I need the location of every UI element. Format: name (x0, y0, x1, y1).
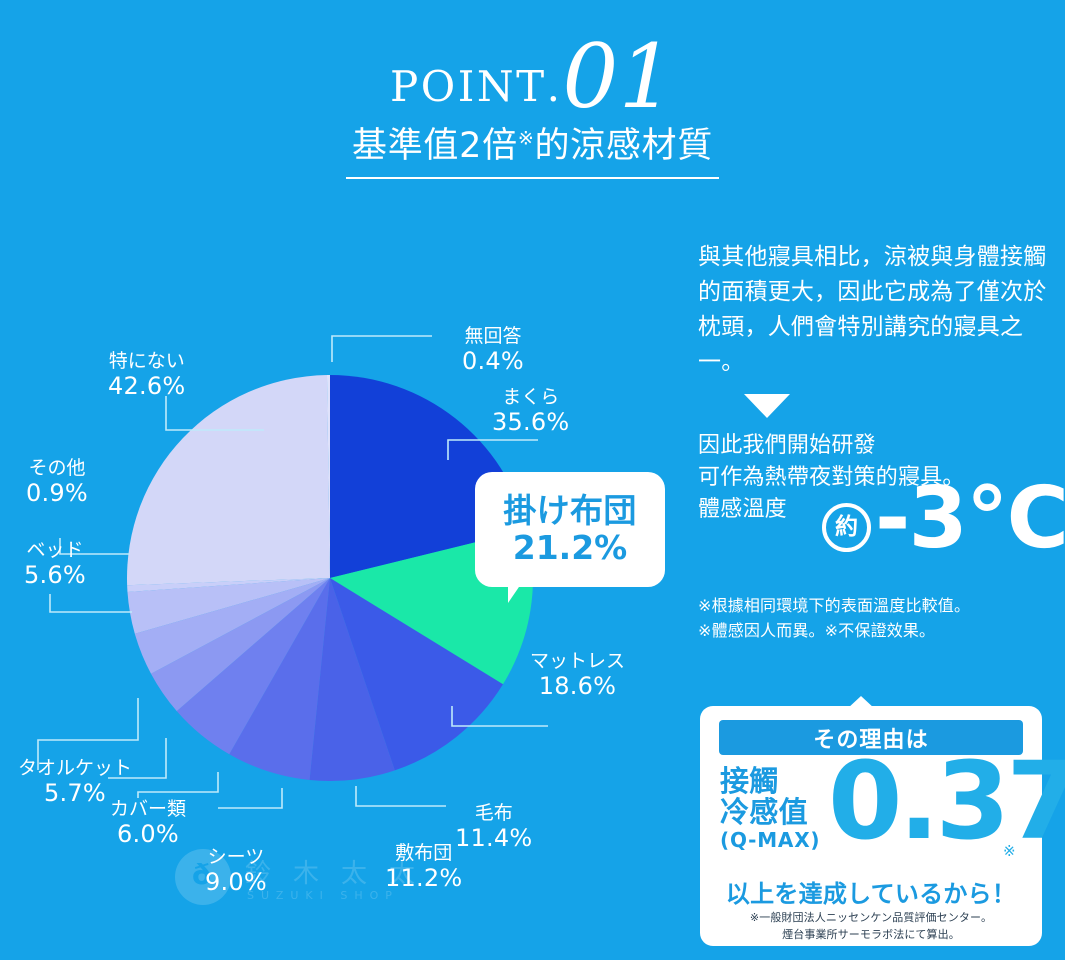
qmax-label-line2: 冷感值 (720, 797, 820, 828)
pie-label-name: まくら (492, 386, 569, 408)
qmax-value: 0.37 (828, 749, 1065, 856)
pie-slices (127, 375, 533, 781)
pie-label-percent: 0.4% (462, 347, 524, 375)
qmax-label-line1: 接觸 (720, 766, 820, 797)
subtitle-before: 基準值2倍 (352, 126, 518, 166)
pie-label-makura: まくら 35.6% (492, 386, 569, 437)
callout-tail (508, 584, 521, 603)
intro-paragraph: 與其他寢具相比，涼被與身體接觸的面積更大，因此它成為了僅次於枕頭，人們會特別講究… (698, 240, 1050, 380)
pie-slice-10 (127, 375, 330, 585)
card-fineprint-line1: ※一般財団法人ニッセンケン品質評価センター。 (700, 910, 1042, 927)
point-word: POINT (390, 62, 547, 111)
reason-card: その理由は 接觸 冷感值 (Q-MAX) 0.37 ※ 以上を達成しているから！… (700, 706, 1042, 946)
pie-label-name: 敷布団 (385, 842, 462, 864)
infographic-root: POINT.01 基準值2倍※的涼感材質 (0, 0, 1065, 960)
qmax-label-line3: (Q-MAX) (720, 830, 820, 851)
header: POINT.01 基準值2倍※的涼感材質 (0, 34, 1065, 179)
development-line-1: 因此我們開始研發 (698, 430, 1050, 462)
point-number: 01 (562, 40, 675, 115)
approx-badge: 約 (822, 503, 871, 552)
pie-label-name: 毛布 (455, 802, 532, 824)
pie-callout-bubble: 掛け布団 21.2% (475, 472, 665, 587)
temperature-value: -3 (875, 478, 966, 560)
pie-label-shikibuton: 敷布団 11.2% (385, 842, 462, 893)
qmax-value-asterisk: ※ (1003, 842, 1016, 860)
right-column: 與其他寢具相比，涼被與身體接觸的面積更大，因此它成為了僅次於枕頭，人們會特別講究… (698, 240, 1050, 644)
pie-label-name: 特にない (108, 350, 185, 372)
point-dot: . (547, 62, 561, 111)
pie-label-mofu: 毛布 11.4% (455, 802, 532, 853)
qmax-label: 接觸 冷感值 (Q-MAX) (720, 766, 820, 852)
pie-label-name: タオルケット (18, 757, 132, 779)
temperature-row: 約 -3 ℃ ※ (698, 480, 1050, 568)
pie-label-bed: ベッド 5.6% (24, 539, 86, 590)
pie-label-percent: 5.7% (18, 779, 132, 807)
footnote-line-2: ※體感因人而異。※不保證效果。 (698, 619, 1050, 644)
footnotes: ※根據相同環境下的表面溫度比較值。 ※體感因人而異。※不保證效果。 (698, 594, 1050, 644)
pie-label-percent: 11.2% (385, 864, 462, 892)
pie-label-muikaito: 無回答 0.4% (462, 325, 524, 376)
subtitle-after: 的涼感材質 (534, 126, 713, 166)
pie-label-mattress: マットレス 18.6% (530, 650, 625, 701)
callout-percent: 21.2% (513, 530, 628, 567)
temperature-graphic: 約 -3 ℃ ※ (822, 478, 1065, 560)
pie-label-name: その他 (26, 457, 88, 479)
pie-label-towelket: タオルケット 5.7% (18, 757, 132, 808)
pie-label-percent: 6.0% (110, 820, 186, 848)
point-heading: POINT.01 (0, 34, 1065, 111)
callout-name: 掛け布団 (503, 493, 636, 530)
pie-label-percent: 42.6% (108, 372, 185, 400)
pie-label-percent: 0.9% (26, 479, 88, 507)
pie-label-other: その他 0.9% (26, 457, 88, 508)
pie-label-sheets: シーツ 9.0% (205, 846, 267, 897)
pie-label-percent: 5.6% (24, 561, 86, 589)
temperature-unit: ℃ (966, 478, 1065, 560)
pie-label-percent: 9.0% (205, 868, 267, 896)
pie-label-percent: 35.6% (492, 408, 569, 436)
pie-label-none: 特にない 42.6% (108, 350, 185, 401)
card-tagline: 以上を達成しているから！ (700, 874, 1042, 909)
pie-label-name: ベッド (24, 539, 86, 561)
down-triangle-icon (744, 394, 790, 418)
pie-label-name: 無回答 (462, 325, 524, 347)
subtitle-asterisk: ※ (518, 127, 535, 149)
card-fineprint: ※一般財団法人ニッセンケン品質評価センター。 煙台事業所サーモラボ法にて算出。 (700, 910, 1042, 943)
pie-label-name: シーツ (205, 846, 267, 868)
pie-label-name: マットレス (530, 650, 625, 672)
card-middle: 接觸 冷感值 (Q-MAX) 0.37 ※ (720, 762, 1025, 866)
card-fineprint-line2: 煙台事業所サーモラボ法にて算出。 (700, 927, 1042, 944)
footnote-line-1: ※根據相同環境下的表面溫度比較值。 (698, 594, 1050, 619)
pie-label-percent: 11.4% (455, 824, 532, 852)
pie-label-percent: 18.6% (530, 672, 625, 700)
